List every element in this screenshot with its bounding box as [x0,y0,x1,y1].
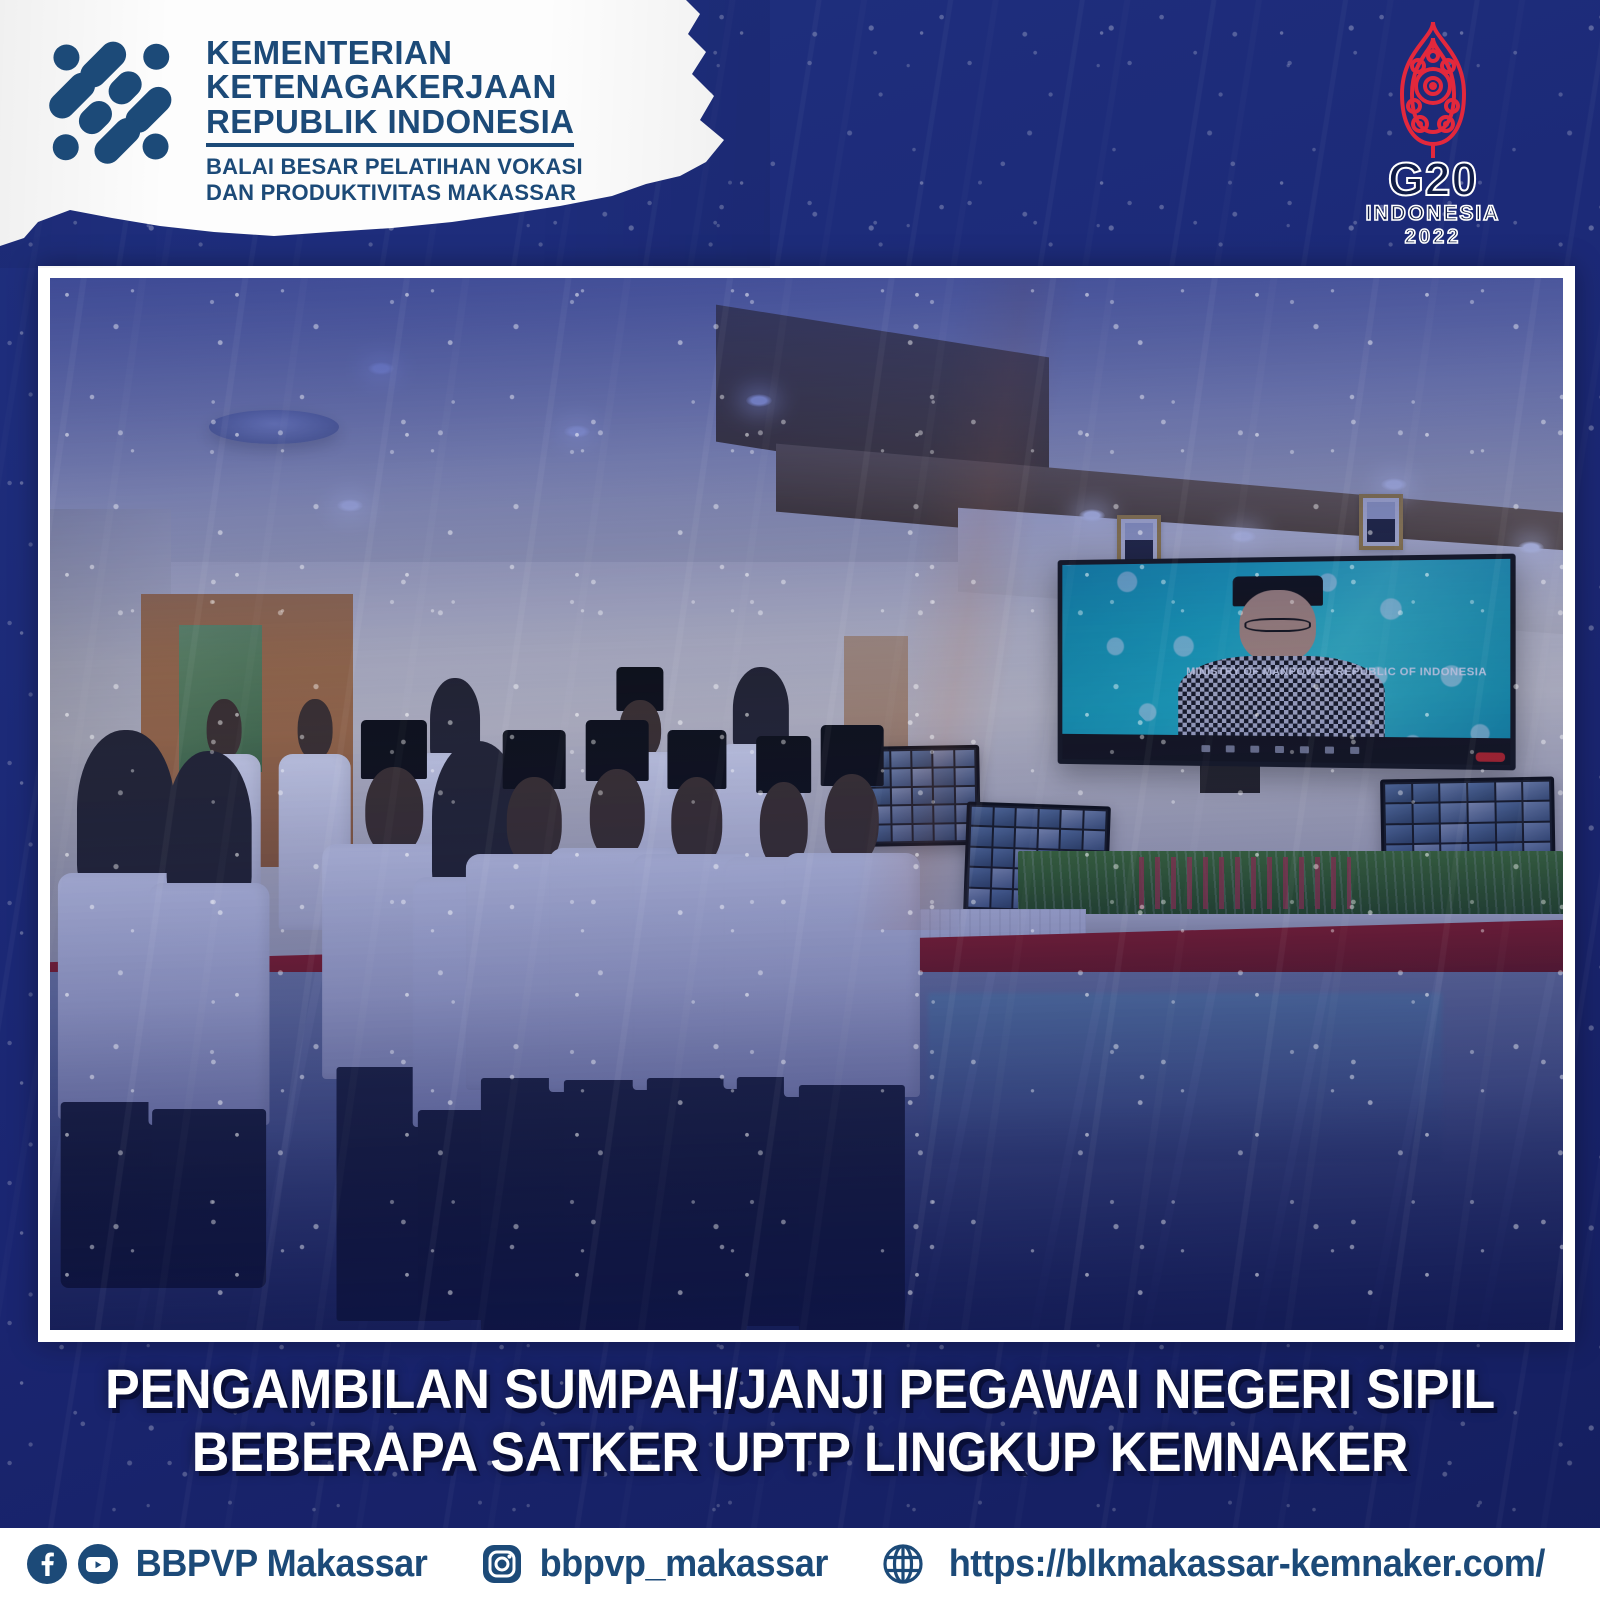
facebook-handle-label[interactable]: BBPVP Makassar [136,1543,428,1586]
unit-line-2: DAN PRODUKTIVITAS MAKASSAR [206,180,583,206]
globe-icon[interactable] [882,1543,924,1585]
footer-item-facebook-youtube[interactable]: BBPVP Makassar [26,1543,435,1586]
g20-wordmark: G20 [1338,156,1528,202]
event-title: PENGAMBILAN SUMPAH/JANJI PEGAWAI NEGERI … [0,1358,1600,1483]
title-line-1: PENGAMBILAN SUMPAH/JANJI PEGAWAI NEGERI … [56,1358,1544,1421]
website-url-label[interactable]: https://blkmakassar-kemnaker.com/ [948,1543,1544,1586]
poster-root: KEMENTERIAN KETENAGAKERJAAN REPUBLIK IND… [0,0,1600,1600]
header: KEMENTERIAN KETENAGAKERJAAN REPUBLIK IND… [0,0,1600,268]
title-line-2: BEBERAPA SATKER UPTP LINGKUP KEMNAKER [56,1421,1544,1484]
unit-line-1: BALAI BESAR PELATIHAN VOKASI [206,154,583,180]
ministry-line-1: KEMENTERIAN [206,36,583,70]
instagram-icon[interactable] [481,1543,523,1585]
footer-item-instagram[interactable]: bbpvp_makassar [481,1543,836,1586]
footer-item-website[interactable]: https://blkmakassar-kemnaker.com/ [882,1543,1561,1586]
facebook-icon[interactable] [26,1543,68,1585]
social-footer: BBPVP Makassar bbpvp_makassar https://bl… [0,1528,1600,1600]
brand-lockup: KEMENTERIAN KETENAGAKERJAAN REPUBLIK IND… [36,24,583,206]
photo-frame: MINISTRY OF MANPOWER REPUBLIC OF INDONES… [38,266,1575,1342]
brand-text-block: KEMENTERIAN KETENAGAKERJAAN REPUBLIK IND… [206,24,583,206]
ministry-line-3: REPUBLIK INDONESIA [206,105,574,147]
photo-light-rays [50,278,1563,1330]
kemnaker-diamond-logo-icon [36,24,186,184]
g20-batik-ornament-icon [1378,16,1488,166]
youtube-icon[interactable] [77,1543,119,1585]
ministry-line-2: KETENAGAKERJAAN [206,70,583,104]
g20-country: INDONESIA [1338,202,1528,226]
instagram-handle-label[interactable]: bbpvp_makassar [540,1543,828,1586]
g20-year: 2022 [1338,226,1528,249]
g20-logo: G20 INDONESIA 2022 [1338,16,1528,249]
ceremony-photo: MINISTRY OF MANPOWER REPUBLIC OF INDONES… [50,278,1563,1330]
